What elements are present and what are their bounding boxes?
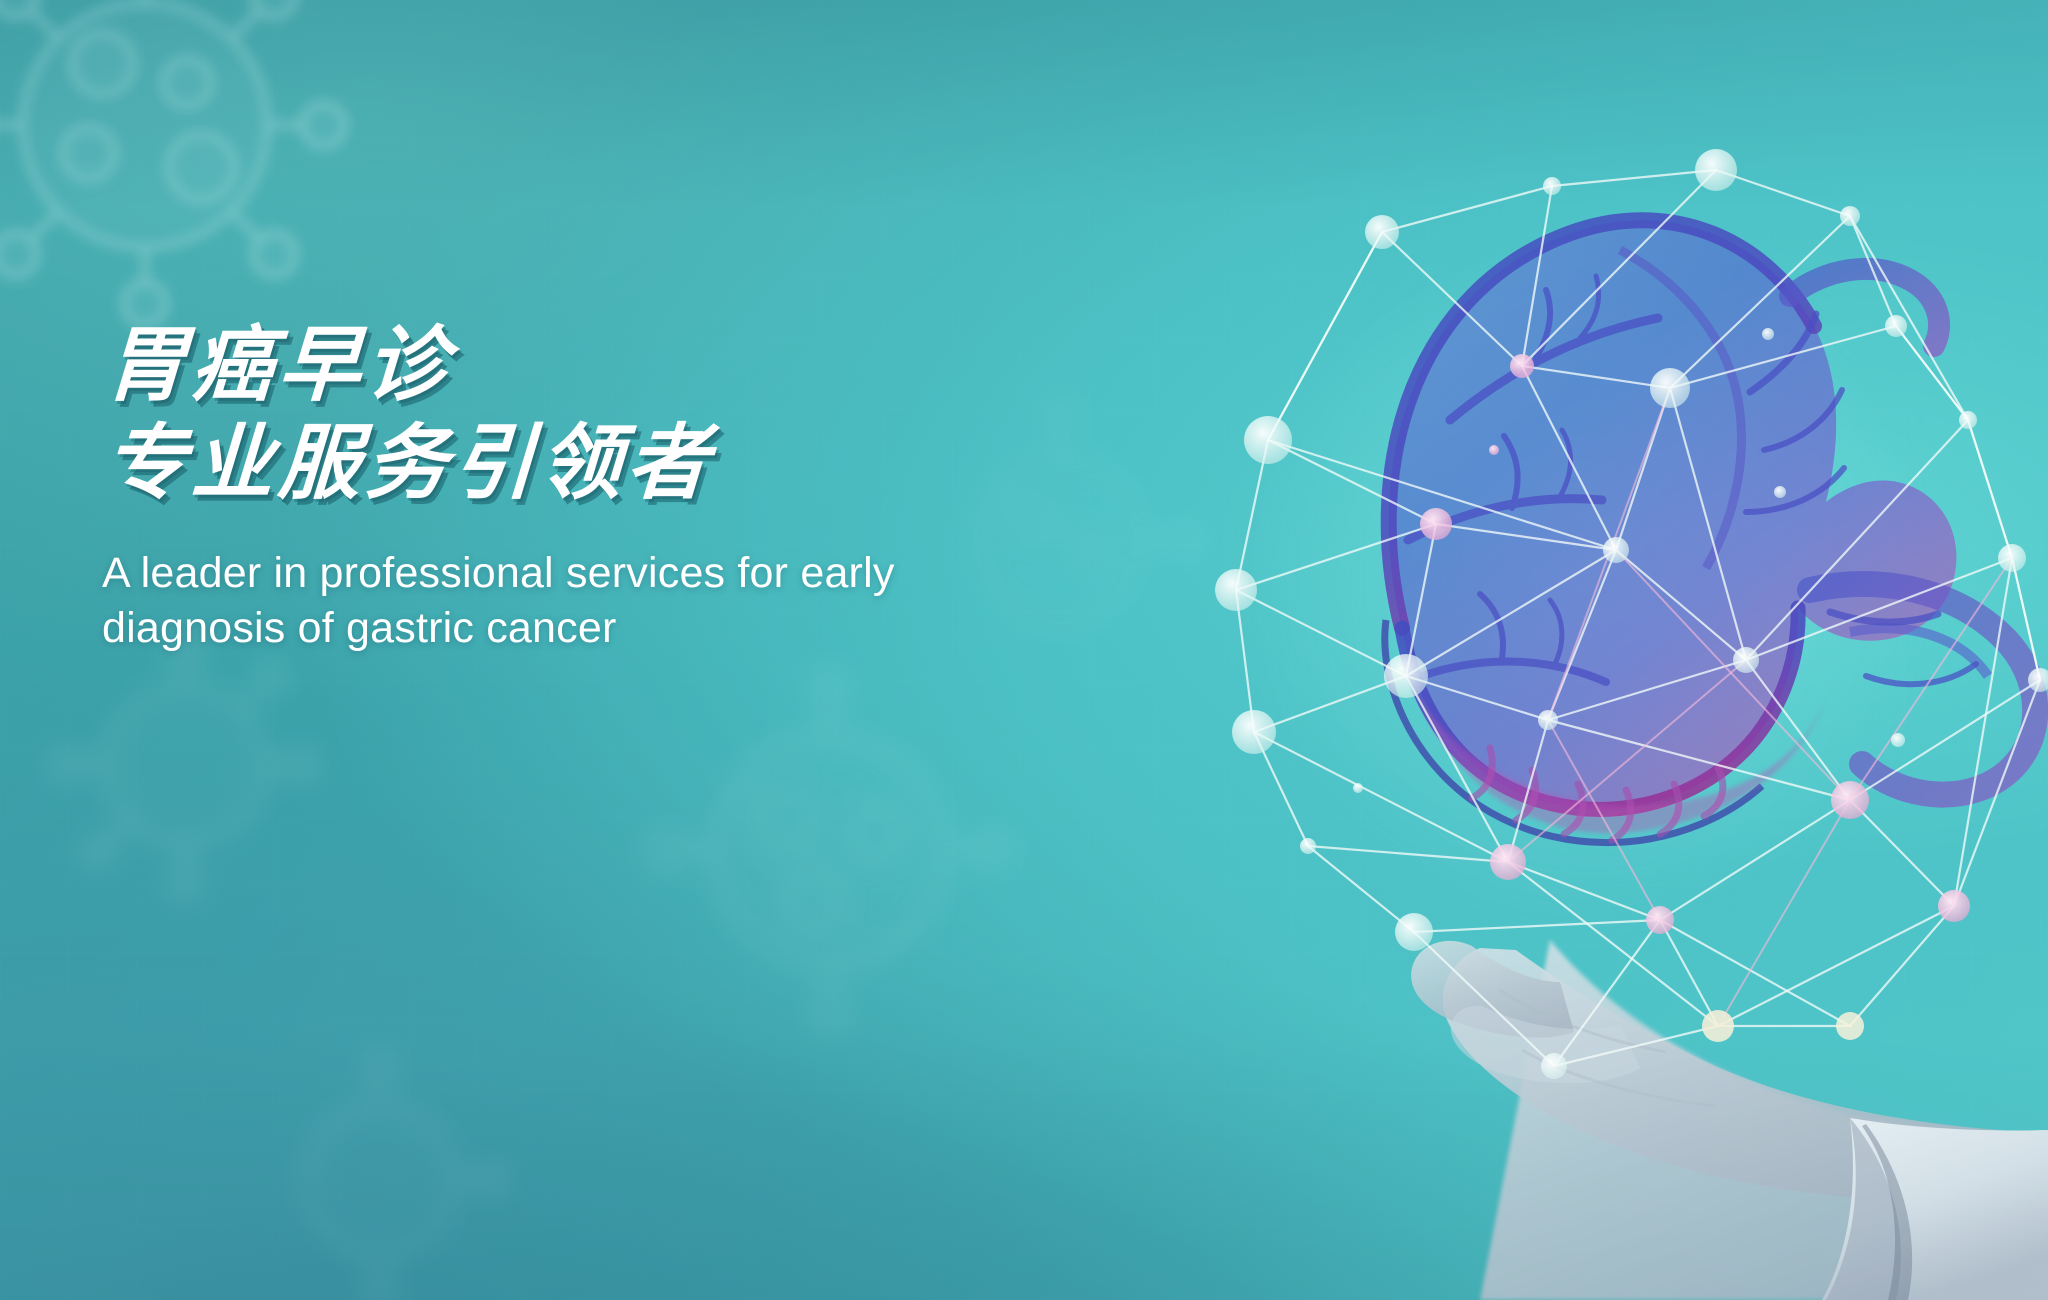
stomach-artwork: [1150, 120, 2048, 1300]
headline-chinese-line-2: 专业服务引领者: [102, 418, 1087, 510]
subheadline-english: A leader in professional services for ea…: [102, 546, 1082, 656]
headline-block: 胃癌早诊 专业服务引领者 A leader in professional se…: [102, 320, 1082, 656]
hand-illustration: [1411, 940, 2048, 1300]
virus-particle-icon: [0, 0, 380, 360]
hero-banner: 胃癌早诊 专业服务引领者 A leader in professional se…: [0, 0, 2048, 1300]
virus-particle-icon: [230, 1030, 530, 1300]
headline-chinese-line-1: 胃癌早诊: [102, 320, 1087, 412]
artwork-svg: [1150, 120, 2048, 1300]
